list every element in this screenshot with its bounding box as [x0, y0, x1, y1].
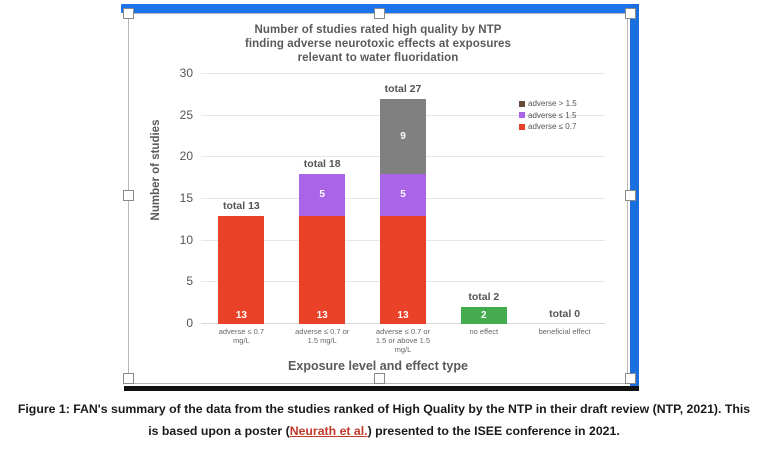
figure-caption: Figure 1: FAN's summary of the data from…	[0, 398, 768, 442]
chart-title-line-3: relevant to water fluoridation	[129, 51, 627, 65]
legend-label: adverse > 1.5	[528, 98, 577, 110]
bar-stack: 1359	[380, 99, 426, 324]
bar-column[interactable]: 2total 2	[443, 74, 524, 324]
bar-stack: 135	[299, 174, 345, 324]
x-axis-category-label-line: mg/L	[203, 336, 280, 345]
resize-handle-top-left[interactable]	[123, 8, 134, 19]
legend-item[interactable]: adverse ≤ 0.7	[519, 121, 577, 133]
bar-segment[interactable]: 13	[380, 216, 426, 324]
caption-citation-link[interactable]: Neurath et al.	[290, 424, 368, 438]
legend-item[interactable]: adverse ≤ 1.5	[519, 110, 577, 122]
y-axis-tick-label: 10	[180, 233, 193, 247]
selected-image-object[interactable]: Number of studies rated high quality by …	[120, 4, 639, 391]
bar-column[interactable]: 1359total 27	[363, 74, 444, 324]
y-axis-tick-label: 25	[180, 108, 193, 122]
x-axis-category-label-line: 1.5 or above 1.5	[365, 336, 442, 345]
bar-segment[interactable]: 5	[299, 174, 345, 216]
y-axis-tick-label: 15	[180, 191, 193, 205]
y-axis-tick-label: 20	[180, 149, 193, 163]
resize-handle-bottom-left[interactable]	[123, 373, 134, 384]
bar-segment[interactable]: 2	[461, 307, 507, 324]
bar-segment[interactable]: 13	[299, 216, 345, 324]
resize-handle-middle-right[interactable]	[625, 190, 636, 201]
bar-column[interactable]: 13total 13	[201, 74, 282, 324]
x-axis-category-label-line: mg/L	[365, 345, 442, 354]
legend-swatch-icon	[519, 124, 525, 130]
bar-stack: 2	[461, 307, 507, 324]
bar-segment[interactable]: 5	[380, 174, 426, 216]
x-axis-category-label-line: adverse ≤ 0.7	[203, 327, 280, 336]
x-axis-title: Exposure level and effect type	[129, 359, 627, 373]
x-axis-category-label-line: beneficial effect	[526, 327, 603, 336]
bar-segment[interactable]: 9	[380, 99, 426, 174]
y-axis-tick-label: 0	[186, 316, 193, 330]
bar-total-label: total 18	[304, 158, 341, 170]
bar-total-label: total 0	[549, 308, 580, 320]
resize-handle-top-center[interactable]	[374, 8, 385, 19]
x-axis-category-label: beneficial effect	[524, 327, 605, 354]
chart-figure[interactable]: Number of studies rated high quality by …	[128, 13, 628, 384]
x-axis-category-label: adverse ≤ 0.7 or1.5 or above 1.5mg/L	[363, 327, 444, 354]
resize-handle-bottom-center[interactable]	[374, 373, 385, 384]
chart-title-line-2: finding adverse neurotoxic effects at ex…	[129, 37, 627, 51]
selection-band-bottom	[124, 386, 639, 391]
x-axis-category-label-line: adverse ≤ 0.7 or	[365, 327, 442, 336]
resize-handle-middle-left[interactable]	[123, 190, 134, 201]
chart-legend: adverse > 1.5adverse ≤ 1.5adverse ≤ 0.7	[519, 98, 577, 133]
bar-stack: 13	[218, 216, 264, 324]
bar-total-label: total 27	[385, 83, 422, 95]
x-axis-category-label-line: no effect	[445, 327, 522, 336]
bar-total-label: total 2	[468, 291, 499, 303]
legend-item[interactable]: adverse > 1.5	[519, 98, 577, 110]
x-axis-tick-labels: adverse ≤ 0.7mg/Ladverse ≤ 0.7 or1.5 mg/…	[201, 327, 605, 354]
chart-title: Number of studies rated high quality by …	[129, 23, 627, 65]
legend-label: adverse ≤ 0.7	[528, 121, 576, 133]
y-axis-tick-label: 5	[186, 274, 193, 288]
x-axis-category-label: no effect	[443, 327, 524, 354]
bar-column[interactable]: 135total 18	[282, 74, 363, 324]
resize-handle-top-right[interactable]	[625, 8, 636, 19]
legend-swatch-icon	[519, 112, 525, 118]
y-axis-tick-label: 30	[180, 66, 193, 80]
legend-label: adverse ≤ 1.5	[528, 110, 576, 122]
y-axis-title: Number of studies	[150, 95, 162, 245]
legend-swatch-icon	[519, 101, 525, 107]
chart-title-line-1: Number of studies rated high quality by …	[129, 23, 627, 37]
x-axis-category-label-line: adverse ≤ 0.7 or	[284, 327, 361, 336]
x-axis-category-label: adverse ≤ 0.7mg/L	[201, 327, 282, 354]
bar-total-label: total 13	[223, 200, 260, 212]
resize-handle-bottom-right[interactable]	[625, 373, 636, 384]
bar-segment[interactable]: 13	[218, 216, 264, 324]
x-axis-category-label-line: 1.5 mg/L	[284, 336, 361, 345]
caption-text-after-link: ) presented to the ISEE conference in 20…	[368, 424, 620, 438]
x-axis-category-label: adverse ≤ 0.7 or1.5 mg/L	[282, 327, 363, 354]
